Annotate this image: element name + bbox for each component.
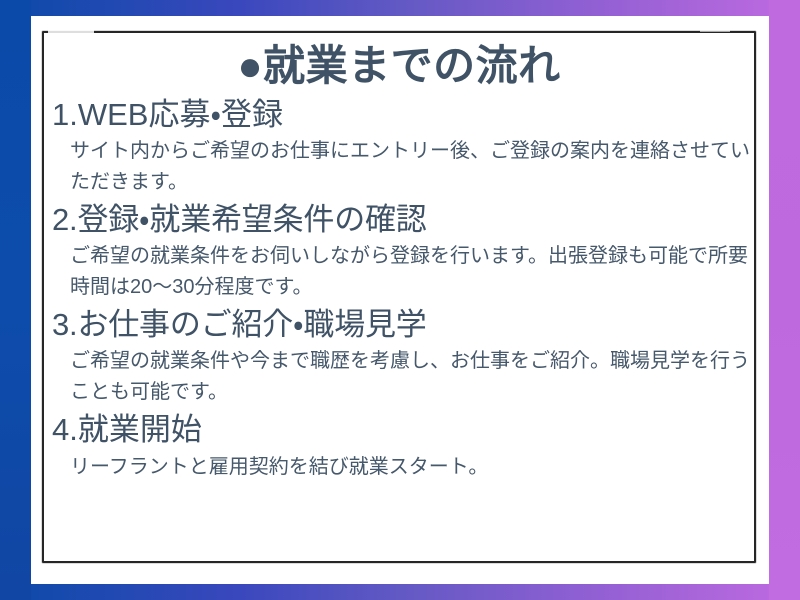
step-body-1: サイト内からご希望のお仕事にエントリー後、ご登録の案内を連絡させていただきます。 — [44, 135, 754, 197]
gradient-bar-left — [0, 0, 31, 600]
steps-list: 1.WEB応募・登録 サイト内からご希望のお仕事にエントリー後、ご登録の案内を連… — [44, 89, 754, 482]
page-title: ●就業までの流れ — [44, 33, 754, 89]
slide-content: ●就業までの流れ 1.WEB応募・登録 サイト内からご希望のお仕事にエントリー後… — [44, 33, 754, 561]
step-heading-2: 2.登録・就業希望条件の確認 — [44, 200, 754, 240]
list-item: 4.就業開始 リーフラントと雇用契約を結び就業スタート。 — [44, 410, 754, 482]
list-item: 2.登録・就業希望条件の確認 ご希望の就業条件をお伺いしながら登録を行います。出… — [44, 200, 754, 302]
step-body-3: ご希望の就業条件や今まで職歴を考慮し、お仕事をご紹介。職場見学を行うことも可能で… — [44, 345, 754, 407]
frame-nick-top-right — [700, 30, 730, 32]
step-body-2: ご希望の就業条件をお伺いしながら登録を行います。出張登録も可能で所要時間は20〜… — [44, 240, 754, 302]
slide-canvas: ●就業までの流れ 1.WEB応募・登録 サイト内からご希望のお仕事にエントリー後… — [0, 0, 800, 600]
step-heading-1: 1.WEB応募・登録 — [44, 95, 754, 135]
step-body-4: リーフラントと雇用契約を結び就業スタート。 — [44, 451, 754, 482]
gradient-bar-top — [0, 0, 800, 16]
gradient-bar-right — [769, 0, 800, 600]
list-item: 3.お仕事のご紹介・職場見学 ご希望の就業条件や今まで職歴を考慮し、お仕事をご紹… — [44, 305, 754, 407]
step-heading-3: 3.お仕事のご紹介・職場見学 — [44, 305, 754, 345]
step-heading-4: 4.就業開始 — [44, 410, 754, 450]
list-item: 1.WEB応募・登録 サイト内からご希望のお仕事にエントリー後、ご登録の案内を連… — [44, 95, 754, 197]
gradient-bar-bottom — [0, 584, 800, 600]
